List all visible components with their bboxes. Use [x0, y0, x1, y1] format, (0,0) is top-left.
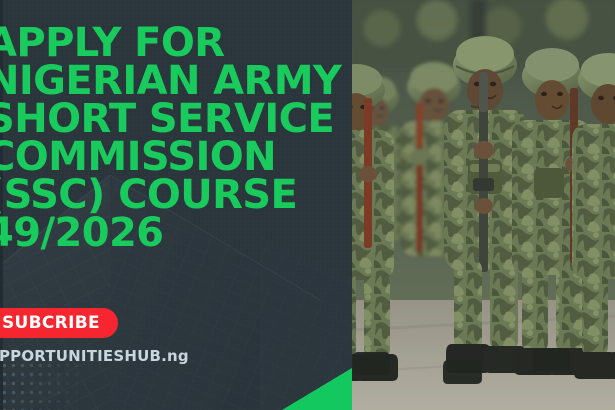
headline-line-4: COMMISSION: [0, 138, 352, 176]
banner-left-panel: APPLY FOR NIGERIAN ARMY SHORT SERVICE CO…: [0, 0, 352, 410]
website-url: OPPORTUNITIESHUB.ng: [0, 347, 189, 365]
subscribe-button[interactable]: SUBCRIBE: [0, 308, 118, 338]
headline-line-3: SHORT SERVICE: [0, 100, 352, 138]
soldiers-photo: [352, 0, 615, 410]
promo-banner: APPLY FOR NIGERIAN ARMY SHORT SERVICE CO…: [0, 0, 615, 410]
headline-line-2: NIGERIAN ARMY: [0, 62, 352, 100]
headline-line-1: APPLY FOR: [0, 24, 352, 62]
page-title: APPLY FOR NIGERIAN ARMY SHORT SERVICE CO…: [0, 24, 352, 252]
headline-line-5: (SSC) COURSE: [0, 176, 352, 214]
headline-line-6: 49/2026: [0, 214, 352, 252]
